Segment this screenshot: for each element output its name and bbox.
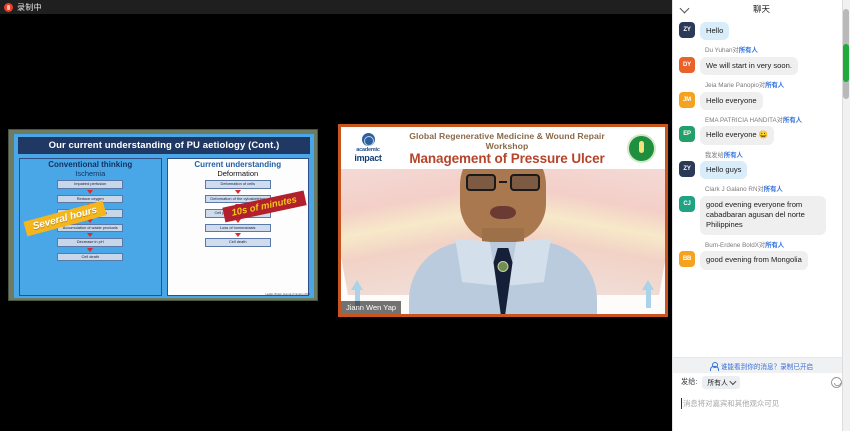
chat-message: Clark J Galano RN对所有人 CJ good evening ev…	[679, 186, 840, 234]
emoji-icon[interactable]	[831, 377, 842, 388]
avatar: ZY	[679, 22, 695, 38]
send-to-row: 发给: 所有人	[673, 373, 850, 391]
message-row: EP Hello everyone 😀	[679, 126, 840, 144]
tie-pin	[498, 261, 509, 272]
chat-panel: 聊天 ZY Hello Du Yuhan对所有人 DY We will star…	[672, 0, 850, 431]
slide-canvas: Our current understanding of PU aetiolog…	[14, 134, 314, 298]
scrollbar-highlight	[843, 44, 849, 82]
participant-name-label: Jiann Wen Yap	[341, 301, 401, 314]
message-row: CJ good evening everyone from cabadbaran…	[679, 196, 840, 235]
message-row: JM Hello everyone	[679, 92, 840, 110]
visibility-notice-text: 谁能看到你的消息？录制已开启	[721, 361, 813, 371]
lens-right	[510, 174, 540, 191]
recording-label: 录制中	[17, 2, 42, 13]
slide-credit: Leaflet: British Journal of Nursing 2017	[265, 293, 310, 296]
slide-body: Conventional thinking Ischemia Impaired …	[14, 154, 314, 298]
chat-footer: 谁能看到你的消息？录制已开启 发给: 所有人 消息将对嘉宾和其他观众可见	[673, 357, 850, 431]
un-emblem-icon	[362, 133, 375, 146]
chat-message: Bum-Erdene BoldX对所有人 BB good evening fro…	[679, 242, 840, 270]
shared-screen-slide[interactable]: Our current understanding of PU aetiolog…	[8, 129, 318, 301]
left-column-heading: Conventional thinking	[48, 161, 132, 169]
meta-recipient: 所有人	[765, 82, 784, 89]
organization-logo-icon	[627, 134, 656, 163]
message-meta: EMA PATRICIA HANDITA对所有人	[705, 117, 840, 125]
message-row: DY We will start in very soon.	[679, 57, 840, 75]
send-to-dropdown[interactable]: 所有人	[702, 376, 740, 389]
avatar: ZY	[679, 161, 695, 177]
meta-recipient: 所有人	[783, 117, 802, 124]
chat-message-list[interactable]: ZY Hello Du Yuhan对所有人 DY We will start i…	[673, 18, 850, 357]
zoom-meeting-window: 录制中 Our current understanding of PU aeti…	[0, 0, 850, 431]
avatar: CJ	[679, 196, 695, 212]
chat-message: Jeia Marie Panopio对所有人 JM Hello everyone	[679, 82, 840, 110]
message-text: Hello guys	[700, 161, 747, 179]
message-meta: Clark J Galano RN对所有人	[705, 186, 840, 194]
send-to-label: 发给:	[681, 377, 697, 387]
chat-input[interactable]: 消息将对嘉宾和其他观众可见	[673, 391, 850, 431]
speaker-video-tile[interactable]: academic impact Global Regenerative Medi…	[338, 124, 668, 317]
meta-sender: EMA PATRICIA HANDITA对	[705, 117, 783, 124]
avatar: DY	[679, 57, 695, 73]
glasses-icon	[466, 173, 540, 191]
arrow-down-icon	[87, 248, 93, 252]
un-academic-impact-logo: academic impact	[349, 133, 387, 163]
message-text: We will start in very soon.	[700, 57, 798, 75]
message-meta: Bum-Erdene BoldX对所有人	[705, 242, 840, 250]
arrow-down-icon	[235, 233, 241, 237]
meta-sender: Bum-Erdene BoldX对	[705, 242, 765, 249]
meta-sender: Jeia Marie Panopio对	[705, 82, 765, 89]
video-slide-header: academic impact Global Regenerative Medi…	[341, 127, 665, 169]
chat-input-placeholder: 消息将对嘉宾和其他观众可见	[681, 398, 779, 409]
message-row: ZY Hello guys	[679, 161, 840, 179]
chevron-down-icon	[729, 378, 735, 384]
chat-message: EMA PATRICIA HANDITA对所有人 EP Hello everyo…	[679, 117, 840, 145]
avatar: BB	[679, 251, 695, 267]
message-meta: Du Yuhan对所有人	[705, 47, 840, 55]
send-to-value: 所有人	[707, 377, 727, 387]
slide-column-current: Current understanding Deformation Deform…	[167, 158, 310, 296]
chat-message: 我发给所有人 ZY Hello guys	[679, 152, 840, 180]
arrow-down-icon	[87, 233, 93, 237]
message-text: good evening from Mongolia	[700, 251, 808, 269]
right-column-heading: Current understanding	[194, 161, 281, 169]
left-column-subheading: Ischemia	[75, 169, 105, 178]
avatar: EP	[679, 126, 695, 142]
message-meta: Jeia Marie Panopio对所有人	[705, 82, 840, 90]
window-scrollbar-track[interactable]	[842, 0, 850, 431]
message-text: Hello everyone 😀	[700, 126, 774, 144]
flow-step: Reduce oxygen	[57, 195, 123, 203]
record-icon	[4, 3, 13, 12]
right-column-subheading: Deformation	[217, 169, 258, 178]
mouth	[490, 206, 516, 219]
message-meta: 我发给所有人	[705, 152, 840, 160]
flow-step: Loss of homeostasis	[205, 224, 271, 232]
meta-recipient: 所有人	[764, 186, 783, 193]
video-header-text: Global Regenerative Medicine & Wound Rep…	[387, 131, 627, 166]
chat-header: 聊天	[673, 0, 850, 18]
flow-step: Impaired perfusion	[57, 180, 123, 188]
speaker-person	[403, 164, 603, 314]
message-row: ZY Hello	[679, 22, 840, 40]
glasses-bridge	[499, 181, 507, 183]
meta-recipient: 所有人	[739, 47, 758, 54]
recording-indicator-bar: 录制中	[0, 0, 672, 14]
workshop-title: Management of Pressure Ulcer	[387, 151, 627, 166]
lens-left	[466, 174, 496, 191]
arrow-down-icon	[87, 190, 93, 194]
message-text: good evening everyone from cabadbaran ag…	[700, 196, 826, 235]
flow-step: Cell death	[57, 253, 123, 261]
meta-sender: Du Yuhan对	[705, 47, 739, 54]
slide-column-conventional: Conventional thinking Ischemia Impaired …	[19, 158, 162, 296]
video-stage: 录制中 Our current understanding of PU aeti…	[0, 0, 672, 431]
arrow-down-icon	[235, 190, 241, 194]
avatar: JM	[679, 92, 695, 108]
chat-title: 聊天	[753, 3, 770, 15]
chevron-down-icon[interactable]	[680, 4, 690, 14]
flow-step: Deformation of cells	[205, 180, 271, 188]
chat-message: Du Yuhan对所有人 DY We will start in very so…	[679, 47, 840, 75]
workshop-subtitle: Global Regenerative Medicine & Wound Rep…	[387, 131, 627, 151]
message-row: BB good evening from Mongolia	[679, 251, 840, 269]
arrow-up-icon	[642, 280, 655, 308]
person-icon	[710, 362, 718, 370]
meta-recipient: 所有人	[765, 242, 784, 249]
flow-step: Decrease in pH	[57, 238, 123, 246]
meta-sender: Clark J Galano RN对	[705, 186, 764, 193]
message-text: Hello everyone	[700, 92, 763, 110]
flow-step: Cell death	[205, 238, 271, 246]
slide-title: Our current understanding of PU aetiolog…	[18, 137, 310, 154]
message-text: Hello	[700, 22, 729, 40]
meta-sender: 我发给	[705, 152, 724, 159]
chat-message: ZY Hello	[679, 22, 840, 40]
video-frame: academic impact Global Regenerative Medi…	[341, 127, 665, 314]
visibility-notice[interactable]: 谁能看到你的消息？录制已开启	[673, 357, 850, 373]
meta-recipient: 所有人	[724, 152, 743, 159]
logo-line-2: impact	[349, 153, 387, 163]
